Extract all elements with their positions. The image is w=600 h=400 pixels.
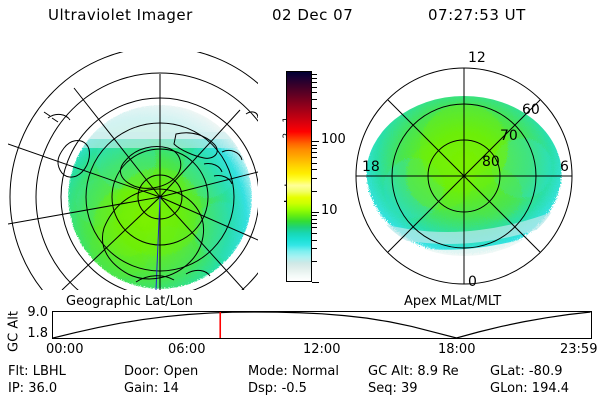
status-field-label: Dsp: (248, 381, 282, 396)
altitude-ytick-bottom: 1.8 (27, 326, 48, 341)
status-field-label: Gain: (124, 381, 162, 396)
colorbar-tick (312, 233, 317, 234)
colorbar-tick (312, 78, 317, 79)
colorbar-tick (312, 223, 317, 224)
status-field-value: LBHL (33, 364, 66, 379)
colorbar-tick (312, 282, 319, 283)
status-field-label: GLon: (490, 381, 532, 396)
colorbar-tick (312, 227, 317, 228)
colorbar-gradient (287, 72, 311, 281)
colorbar-tick (312, 92, 317, 93)
colorbar-tick (312, 99, 317, 100)
colorbar-tick (312, 82, 317, 83)
status-field-value: Normal (292, 364, 339, 379)
status-field-label: GLat: (490, 364, 529, 379)
status-block: Flt: LBHLDoor: OpenMode: NormalGC Alt: 8… (0, 364, 600, 400)
altitude-plot-frame (52, 311, 592, 339)
altitude-plot[interactable]: GC Alt 9.0 1.8 00:0006:0012:0018:0023:59 (0, 308, 600, 360)
aurora-emission-region (336, 86, 598, 292)
colorbar-tick (312, 219, 317, 220)
status-field-value: 8.9 Re (417, 364, 458, 379)
apex-panel-caption: Apex MLat/MLT (404, 294, 501, 309)
status-field-value: -80.9 (529, 364, 563, 379)
altitude-ytick-top: 9.0 (27, 305, 48, 320)
colorbar-tick (312, 191, 317, 192)
apex-polar-panel[interactable]: 12 18 6 0 60 70 80 (336, 48, 598, 292)
status-field: Flt: LBHL (8, 364, 66, 379)
colorbar-tick (312, 248, 317, 249)
colorbar-tick (312, 169, 317, 170)
status-field-value: 194.4 (532, 381, 569, 396)
apex-polar-plot: 12 18 6 0 60 70 80 (336, 48, 598, 292)
status-field: IP: 36.0 (8, 381, 57, 396)
apex-graticule (356, 68, 572, 284)
status-field: Seq: 39 (368, 381, 418, 396)
mlat-label-60: 60 (522, 102, 540, 118)
mlt-label-6: 6 (560, 159, 569, 175)
status-field-label: GC Alt: (368, 364, 417, 379)
status-field-value: Open (164, 364, 199, 379)
status-field-value: 39 (401, 381, 418, 396)
mlt-label-18: 18 (362, 159, 380, 175)
status-field-label: Mode: (248, 364, 292, 379)
geographic-polar-panel[interactable] (8, 52, 258, 290)
status-field-value: -0.5 (282, 381, 307, 396)
observation-date: 02 Dec 07 (272, 6, 353, 24)
header-bar: Ultraviolet Imager 02 Dec 07 07:27:53 UT (0, 6, 600, 30)
mlat-label-80: 80 (482, 154, 500, 170)
altitude-y-axis-label: GC Alt (7, 304, 22, 360)
altitude-xtick-label: 23:59 (560, 342, 597, 357)
status-field: Dsp: -0.5 (248, 381, 307, 396)
altitude-xtick-label: 06:00 (168, 342, 205, 357)
mlt-label-0: 0 (468, 274, 477, 290)
status-field-label: Flt: (8, 364, 33, 379)
colorbar-tick (312, 145, 317, 146)
aurora-emission-disk (68, 105, 258, 289)
colorbar-tick (312, 215, 317, 216)
colorbar-tick (312, 108, 317, 109)
colorbar-tick (312, 87, 317, 88)
status-field: Door: Open (124, 364, 198, 379)
mlat-label-70: 70 (500, 128, 518, 144)
colorbar-tick (312, 240, 317, 241)
colorbar-tick (312, 141, 319, 142)
colorbar-tick (312, 120, 317, 121)
status-field: Gain: 14 (124, 381, 179, 396)
colorbar-tick (312, 152, 317, 153)
page-title: Ultraviolet Imager (48, 6, 193, 24)
colorbar-tick (312, 178, 317, 179)
altitude-xtick-label: 00:00 (46, 342, 83, 357)
altitude-curve (53, 312, 591, 338)
colorbar-scale[interactable] (286, 71, 312, 282)
status-field-value: 36.0 (28, 381, 57, 396)
status-field: GLat: -80.9 (490, 364, 563, 379)
mlt-label-12: 12 (468, 50, 486, 66)
altitude-curve-svg (53, 312, 591, 338)
geographic-panel-caption: Geographic Lat/Lon (66, 294, 193, 309)
colorbar-tick (312, 148, 317, 149)
status-field-value: 14 (162, 381, 179, 396)
altitude-xtick-label: 12:00 (303, 342, 340, 357)
status-field: GC Alt: 8.9 Re (368, 364, 459, 379)
colorbar-tick (312, 74, 317, 75)
status-field-label: IP: (8, 381, 28, 396)
observation-time: 07:27:53 UT (428, 6, 526, 24)
status-field-label: Door: (124, 364, 164, 379)
status-field-label: Seq: (368, 381, 401, 396)
status-field: GLon: 194.4 (490, 381, 569, 396)
altitude-xtick-label: 18:00 (438, 342, 475, 357)
colorbar-tick (312, 212, 319, 213)
colorbar-tick (312, 157, 317, 158)
geographic-polar-plot (8, 52, 258, 290)
colorbar-tick (312, 163, 317, 164)
status-field: Mode: Normal (248, 364, 339, 379)
colorbar-tick (312, 261, 317, 262)
colorbar-group: photon cm-2s-1 10010 (258, 60, 338, 292)
